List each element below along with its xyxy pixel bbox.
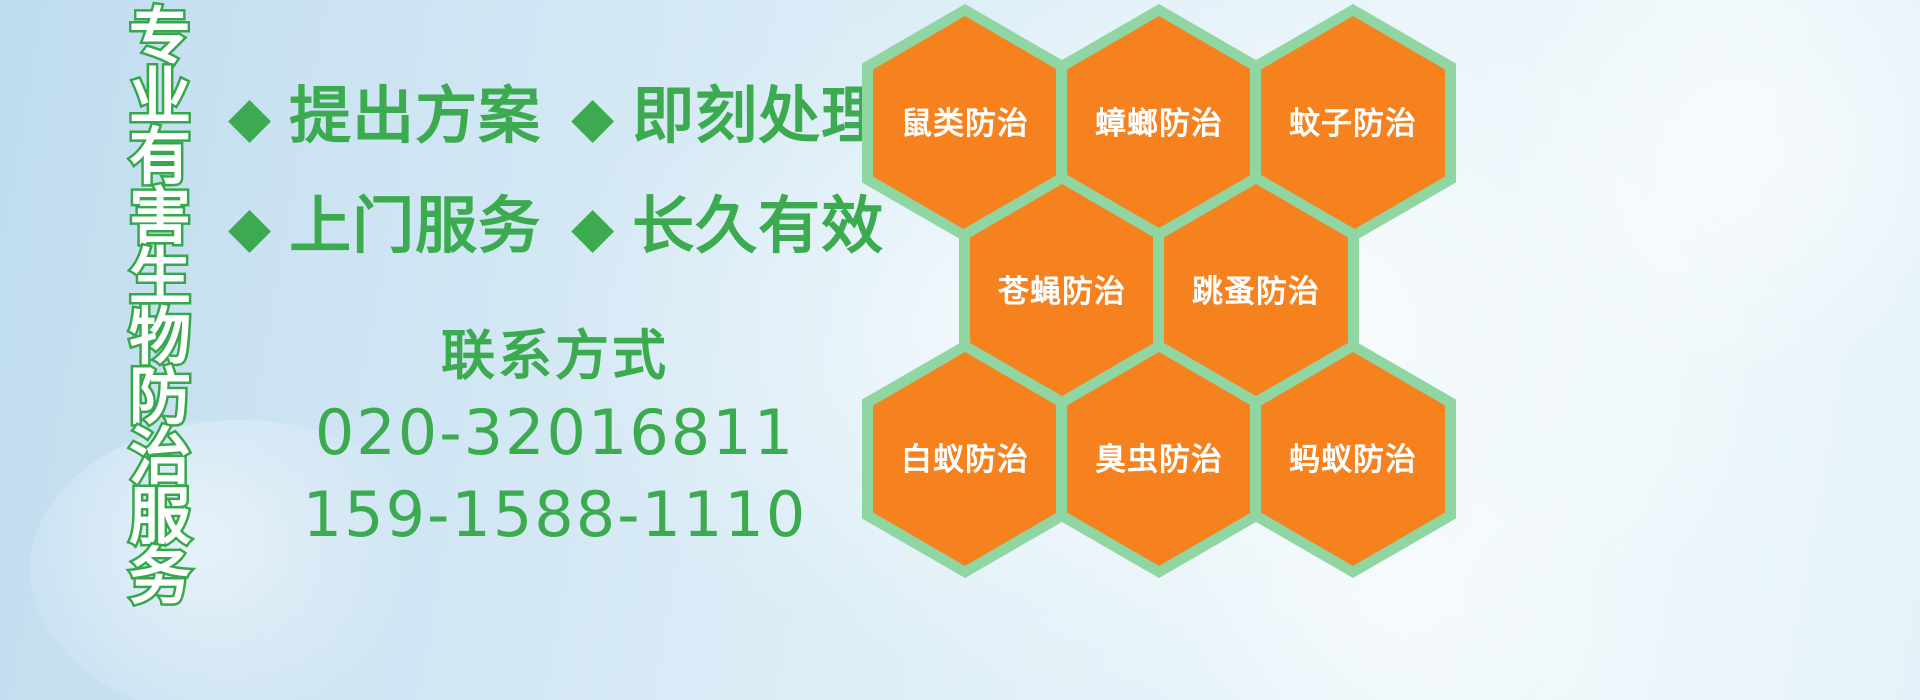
contact-phone-mobile[interactable]: 159-1588-1110 — [250, 474, 860, 556]
contact-title: 联系方式 — [250, 320, 860, 392]
vertical-headline-char-5: 生 — [129, 248, 191, 308]
hex-label-termite-control: 白蚁防治 — [901, 444, 1029, 475]
service-hexagon-grid: 鼠类防治 蟑螂防治 蚊子防治 苍蝇防治 跳蚤防治 — [858, 0, 1458, 700]
vertical-headline-char-4: 害 — [129, 188, 191, 248]
feature-row-1: ◆ 提出方案 ◆ 即刻处理 — [228, 86, 884, 148]
feature-label-propose-plan: 提出方案 — [289, 86, 541, 148]
hex-label-ant-control: 蚂蚁防治 — [1289, 444, 1417, 475]
vertical-headline: 专 业 有 害 生 物 防 治 服 务 — [112, 8, 208, 568]
contact-phone-landline[interactable]: 020-32016811 — [250, 392, 860, 474]
hex-label-bedbug-control: 臭虫防治 — [1095, 444, 1223, 475]
hex-label-cockroach-control: 蟑螂防治 — [1095, 108, 1223, 139]
hex-label-fly-control: 苍蝇防治 — [998, 276, 1126, 307]
hex-label-mosquito-control: 蚊子防治 — [1289, 108, 1417, 139]
diamond-icon: ◆ — [228, 199, 271, 255]
diamond-icon: ◆ — [571, 199, 614, 255]
diamond-icon: ◆ — [571, 89, 614, 145]
diamond-icon: ◆ — [228, 89, 271, 145]
vertical-headline-char-1: 专 — [129, 8, 191, 68]
contact-block: 联系方式 020-32016811 159-1588-1110 — [250, 320, 860, 556]
background-light-blob-right — [1480, 0, 1920, 360]
feature-label-immediate-handling: 即刻处理 — [632, 86, 884, 148]
vertical-headline-char-6: 物 — [129, 308, 191, 368]
vertical-headline-char-2: 业 — [129, 68, 191, 128]
vertical-headline-char-8: 治 — [129, 428, 191, 488]
vertical-headline-char-7: 防 — [129, 368, 191, 428]
vertical-headline-char-3: 有 — [129, 128, 191, 188]
vertical-headline-char-10: 务 — [129, 548, 191, 608]
pest-control-service-banner: 专 业 有 害 生 物 防 治 服 务 ◆ 提出方案 ◆ 即刻处理 ◆ 上门服务… — [0, 0, 1920, 700]
vertical-headline-char-9: 服 — [129, 488, 191, 548]
hex-cell-ant-control[interactable]: 蚂蚁防治 — [1250, 340, 1456, 578]
hex-label-flea-control: 跳蚤防治 — [1192, 276, 1320, 307]
hex-cell-termite-control[interactable]: 白蚁防治 — [862, 340, 1068, 578]
hex-label-rodent-control: 鼠类防治 — [901, 108, 1029, 139]
feature-label-onsite-service: 上门服务 — [289, 196, 541, 258]
feature-row-2: ◆ 上门服务 ◆ 长久有效 — [228, 196, 884, 258]
feature-label-long-lasting: 长久有效 — [632, 196, 884, 258]
hex-cell-bedbug-control[interactable]: 臭虫防治 — [1056, 340, 1262, 578]
